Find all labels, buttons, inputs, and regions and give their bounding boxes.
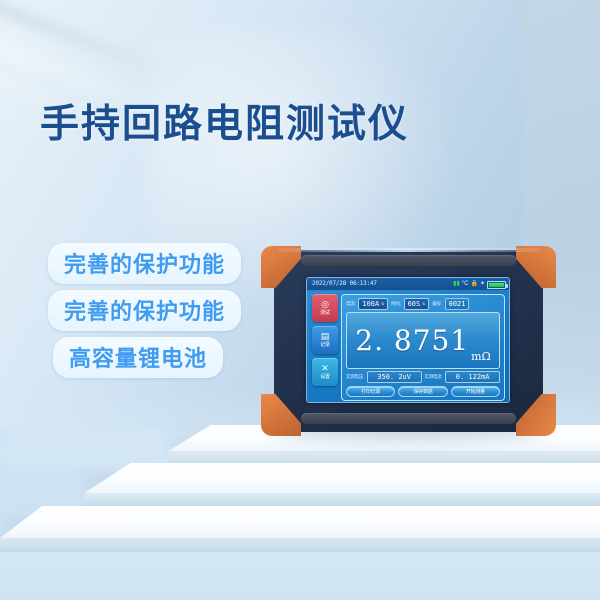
save-data-button[interactable]: 保存数据 xyxy=(398,386,447,397)
feature-badge: 完善的保护功能 xyxy=(48,290,241,331)
screen-sidebar: ◎ 测试 ▤ 记录 ✕ 设置 xyxy=(307,291,340,403)
temperature-icon: °C xyxy=(462,279,469,290)
serial-param-value: 0021 xyxy=(445,298,470,310)
parameter-row: 电流: 100A ⇅ 时间: 60S ⇅ 编号: 0021 xyxy=(346,298,500,310)
bluetooth-icon: ✦ xyxy=(480,279,485,290)
sidebar-item-label: 测试 xyxy=(320,310,329,316)
grip-strip-top xyxy=(301,255,516,266)
handheld-tester-device: 2022/07/28 06:13:47 ▮▮ °C 🔒 ✦ ◎ 测试 ▤ xyxy=(261,246,556,436)
lock-icon: 🔒 xyxy=(470,279,477,290)
measured-current-label: 实测电流: xyxy=(425,374,443,380)
screen-content: ◎ 测试 ▤ 记录 ✕ 设置 电流: xyxy=(307,291,509,403)
chevron-updown-icon: ⇅ xyxy=(381,302,384,307)
reading-unit: mΩ xyxy=(471,350,491,363)
measured-voltage-value: 350. 2uV xyxy=(367,371,422,383)
test-icon: ◎ xyxy=(321,300,329,309)
platform-middle-edge xyxy=(84,493,600,506)
product-scene: 手持回路电阻测试仪 完善的保护功能 完善的保护功能 高容量锂电池 2022/07… xyxy=(0,0,600,600)
measured-voltage-label: 实测电压: xyxy=(346,374,364,380)
platform-front xyxy=(0,506,600,538)
time-param-select[interactable]: 60S ⇅ xyxy=(404,298,430,310)
primary-reading: 2. 8751 mΩ xyxy=(346,312,500,369)
current-param-value: 100A xyxy=(362,299,379,309)
time-param-label: 时间: xyxy=(391,301,400,307)
status-bar: 2022/07/28 06:13:47 ▮▮ °C 🔒 ✦ xyxy=(307,278,509,291)
device-screen[interactable]: 2022/07/28 06:13:47 ▮▮ °C 🔒 ✦ ◎ 测试 ▤ xyxy=(306,277,510,403)
chevron-updown-icon: ⇅ xyxy=(422,302,425,307)
measured-values-row: 实测电压: 350. 2uV 实测电流: 0. 122mA xyxy=(346,371,500,383)
feature-badge: 高容量锂电池 xyxy=(53,337,223,378)
status-icon-group: ▮▮ °C 🔒 ✦ xyxy=(453,279,506,290)
sidebar-item-label: 设置 xyxy=(320,374,329,380)
print-record-button[interactable]: 打印记录 xyxy=(346,386,395,397)
current-param-label: 电流: xyxy=(346,301,355,307)
reading-value: 2. 8751 xyxy=(355,326,469,356)
platform-middle xyxy=(84,463,600,493)
signal-icon: ▮▮ xyxy=(453,279,460,290)
platform-back-edge xyxy=(168,451,600,463)
status-datetime: 2022/07/28 06:13:47 xyxy=(312,280,377,287)
platform-front-edge xyxy=(0,538,600,552)
sidebar-item-test[interactable]: ◎ 测试 xyxy=(312,294,338,322)
feature-badge-list: 完善的保护功能 完善的保护功能 高容量锂电池 xyxy=(0,243,241,384)
serial-param-label: 编号: xyxy=(432,301,441,307)
page-title: 手持回路电阻测试仪 xyxy=(40,93,409,149)
device-top-highlight xyxy=(277,248,540,252)
measurement-panel: 电流: 100A ⇅ 时间: 60S ⇅ 编号: 0021 xyxy=(341,294,505,401)
screen-button-row: 打印记录 保存数据 开始测量 xyxy=(346,386,500,397)
settings-icon: ✕ xyxy=(321,364,329,373)
time-param-value: 60S xyxy=(408,299,421,309)
sidebar-item-record[interactable]: ▤ 记录 xyxy=(312,326,338,354)
feature-badge: 完善的保护功能 xyxy=(48,243,241,284)
record-icon: ▤ xyxy=(321,332,330,341)
grip-strip-bottom xyxy=(301,413,516,424)
floor xyxy=(0,552,600,600)
start-measure-button[interactable]: 开始测量 xyxy=(451,386,500,397)
current-param-select[interactable]: 100A ⇅ xyxy=(358,298,388,310)
battery-icon xyxy=(487,281,506,289)
measured-current-value: 0. 122mA xyxy=(445,371,500,383)
sidebar-item-label: 记录 xyxy=(320,342,329,348)
sidebar-item-settings[interactable]: ✕ 设置 xyxy=(312,358,338,386)
